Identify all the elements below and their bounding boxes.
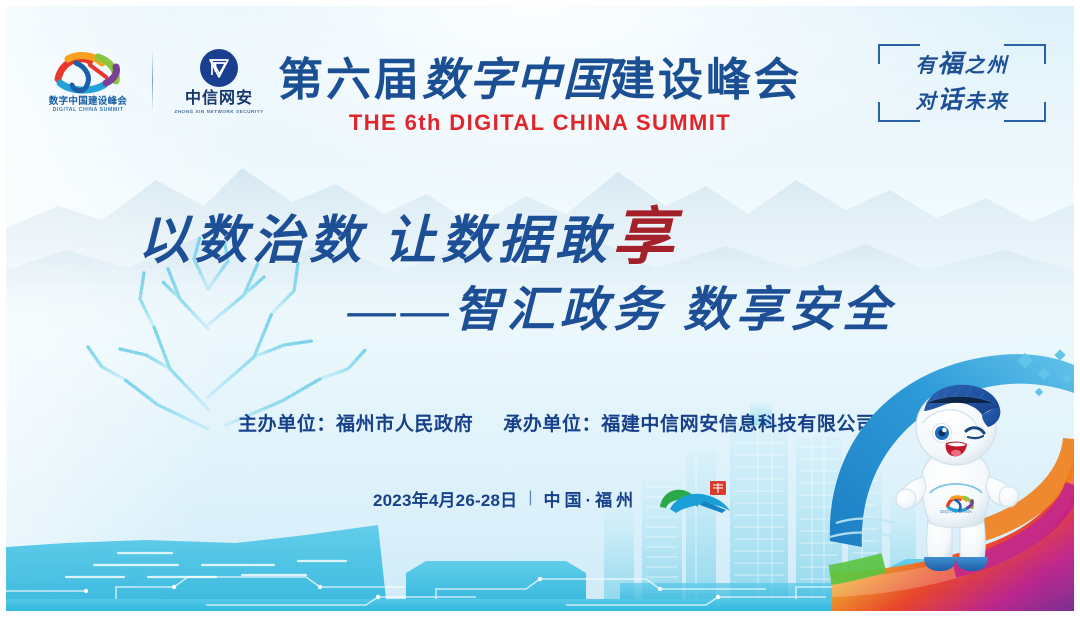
date-separator: | xyxy=(528,489,532,507)
host-value: 福州市人民政府 xyxy=(336,414,473,435)
headline-accent: 享 xyxy=(612,204,679,272)
host-label: 主办单位： xyxy=(238,414,336,435)
slogan-text: 有福之州 对话未来 xyxy=(878,44,1046,122)
digital-china-summit-logo[interactable]: 数字中国建设峰会 DIGITAL CHINA SUMMIT xyxy=(38,49,138,114)
headline-main: 以数治数 让数据敢 xyxy=(138,213,612,270)
summit-poster: 数字中国建设峰会 DIGITAL CHINA SUMMIT 中信网安 ZHONG… xyxy=(0,0,1080,619)
fuzhou-city-tourism-mark xyxy=(654,477,734,519)
svg-text:DIGITAL CHINA: DIGITAL CHINA xyxy=(940,509,972,514)
zhongxin-logo-cn: 中信网安 xyxy=(185,91,253,107)
header-logos: 数字中国建设峰会 DIGITAL CHINA SUMMIT 中信网安 ZHONG… xyxy=(38,48,271,115)
date-location-line: 2023年4月26-28日 | 中国·福州 xyxy=(373,477,734,519)
dcs-logo-en: DIGITAL CHINA SUMMIT xyxy=(53,108,124,113)
circuit-tree xyxy=(58,229,388,559)
digital-china-summit-mark xyxy=(46,49,130,95)
event-date: 2023年4月26-28日 xyxy=(373,486,517,511)
slogan-l1c: 之州 xyxy=(965,55,1009,77)
slogan-line-2: 对话未来 xyxy=(915,83,1008,119)
organizing-units: 主办单位：福州市人民政府承办单位：福建中信网安信息科技有限公司 xyxy=(238,409,876,436)
dcs-logo-cn: 数字中国建设峰会 xyxy=(49,97,127,107)
logo-divider xyxy=(152,50,153,112)
organizer-label: 承办单位： xyxy=(503,414,601,435)
slogan-l2b: 话 xyxy=(937,87,964,114)
event-city: 中国·福州 xyxy=(544,486,638,511)
slogan-l1a: 有 xyxy=(915,55,937,77)
slogan-line-1: 有福之州 xyxy=(915,47,1008,83)
slogan-l1b: 福 xyxy=(937,51,964,78)
slogan-l2a: 对 xyxy=(915,91,937,113)
zhongxin-network-security-mark xyxy=(199,48,239,88)
headline-line-2: ——智汇政务 数享安全 xyxy=(348,270,895,340)
headline-line-1: 以数治数 让数据敢享 xyxy=(138,186,679,276)
digital-china-summit-mascot: DIGITAL CHINA xyxy=(882,381,1028,581)
zhongxin-logo-en: ZHONG XIN NETWORK SECURITY xyxy=(174,110,263,115)
slogan-badge: 有福之州 对话未来 xyxy=(878,44,1046,122)
zhongxin-logo[interactable]: 中信网安 ZHONG XIN NETWORK SECURITY xyxy=(167,48,271,115)
slogan-l2c: 未来 xyxy=(965,91,1009,113)
